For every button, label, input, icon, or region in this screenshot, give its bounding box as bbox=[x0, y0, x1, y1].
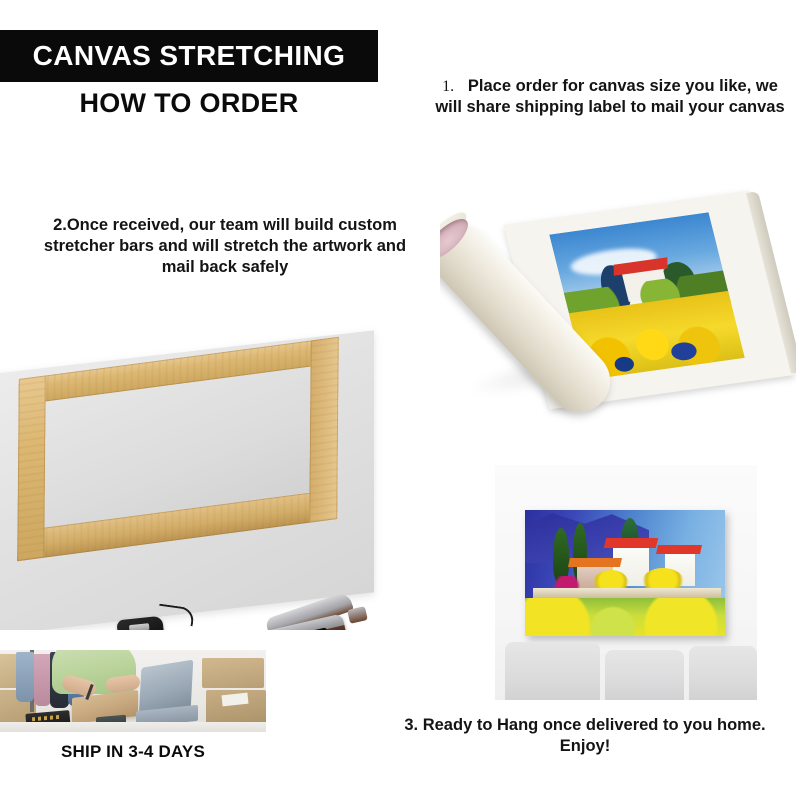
sofa-cushion bbox=[605, 650, 684, 700]
sofa-cushion bbox=[689, 646, 757, 700]
wall-art-roof bbox=[656, 545, 702, 554]
hung-artwork-photo bbox=[495, 465, 757, 700]
wall-artwork bbox=[525, 510, 725, 636]
title-banner: CANVAS STRETCHING bbox=[0, 30, 378, 82]
step-1-text: 1. Place order for canvas size you like,… bbox=[432, 76, 788, 119]
ship-days-label: SHIP IN 3-4 DAYS bbox=[0, 742, 266, 762]
page-title: CANVAS STRETCHING bbox=[33, 40, 346, 72]
sheet-edge bbox=[746, 191, 796, 373]
stacked-box bbox=[202, 658, 264, 688]
packing-photo bbox=[0, 650, 266, 732]
step-1-body: Place order for canvas size you like, we… bbox=[435, 77, 784, 116]
staple-gun-nose bbox=[347, 606, 368, 624]
wood-grain bbox=[309, 337, 339, 523]
poster-root: CANVAS STRETCHING HOW TO ORDER 1. Place … bbox=[0, 0, 800, 800]
stretcher-frame-photo bbox=[0, 300, 440, 630]
step-2-text: 2.Once received, our team will build cus… bbox=[34, 215, 416, 278]
hanging-garment bbox=[34, 654, 51, 706]
desk-surface bbox=[0, 722, 266, 732]
tape-measure-clip bbox=[129, 623, 150, 630]
hanging-garment bbox=[16, 652, 34, 702]
wall-art-roof bbox=[568, 558, 622, 567]
wood-grain bbox=[17, 375, 46, 561]
wall-art-roof bbox=[604, 538, 659, 548]
sofa-cushion bbox=[505, 642, 599, 700]
step-3-text: 3. Ready to Hang once delivered to you h… bbox=[380, 715, 790, 757]
sofa bbox=[495, 620, 757, 700]
page-subtitle: HOW TO ORDER bbox=[0, 88, 378, 119]
rolled-canvas-photo bbox=[440, 185, 796, 435]
frame-bar-left bbox=[17, 375, 46, 561]
frame-bar-right bbox=[309, 337, 339, 523]
step-1-number: 1. bbox=[442, 78, 454, 95]
